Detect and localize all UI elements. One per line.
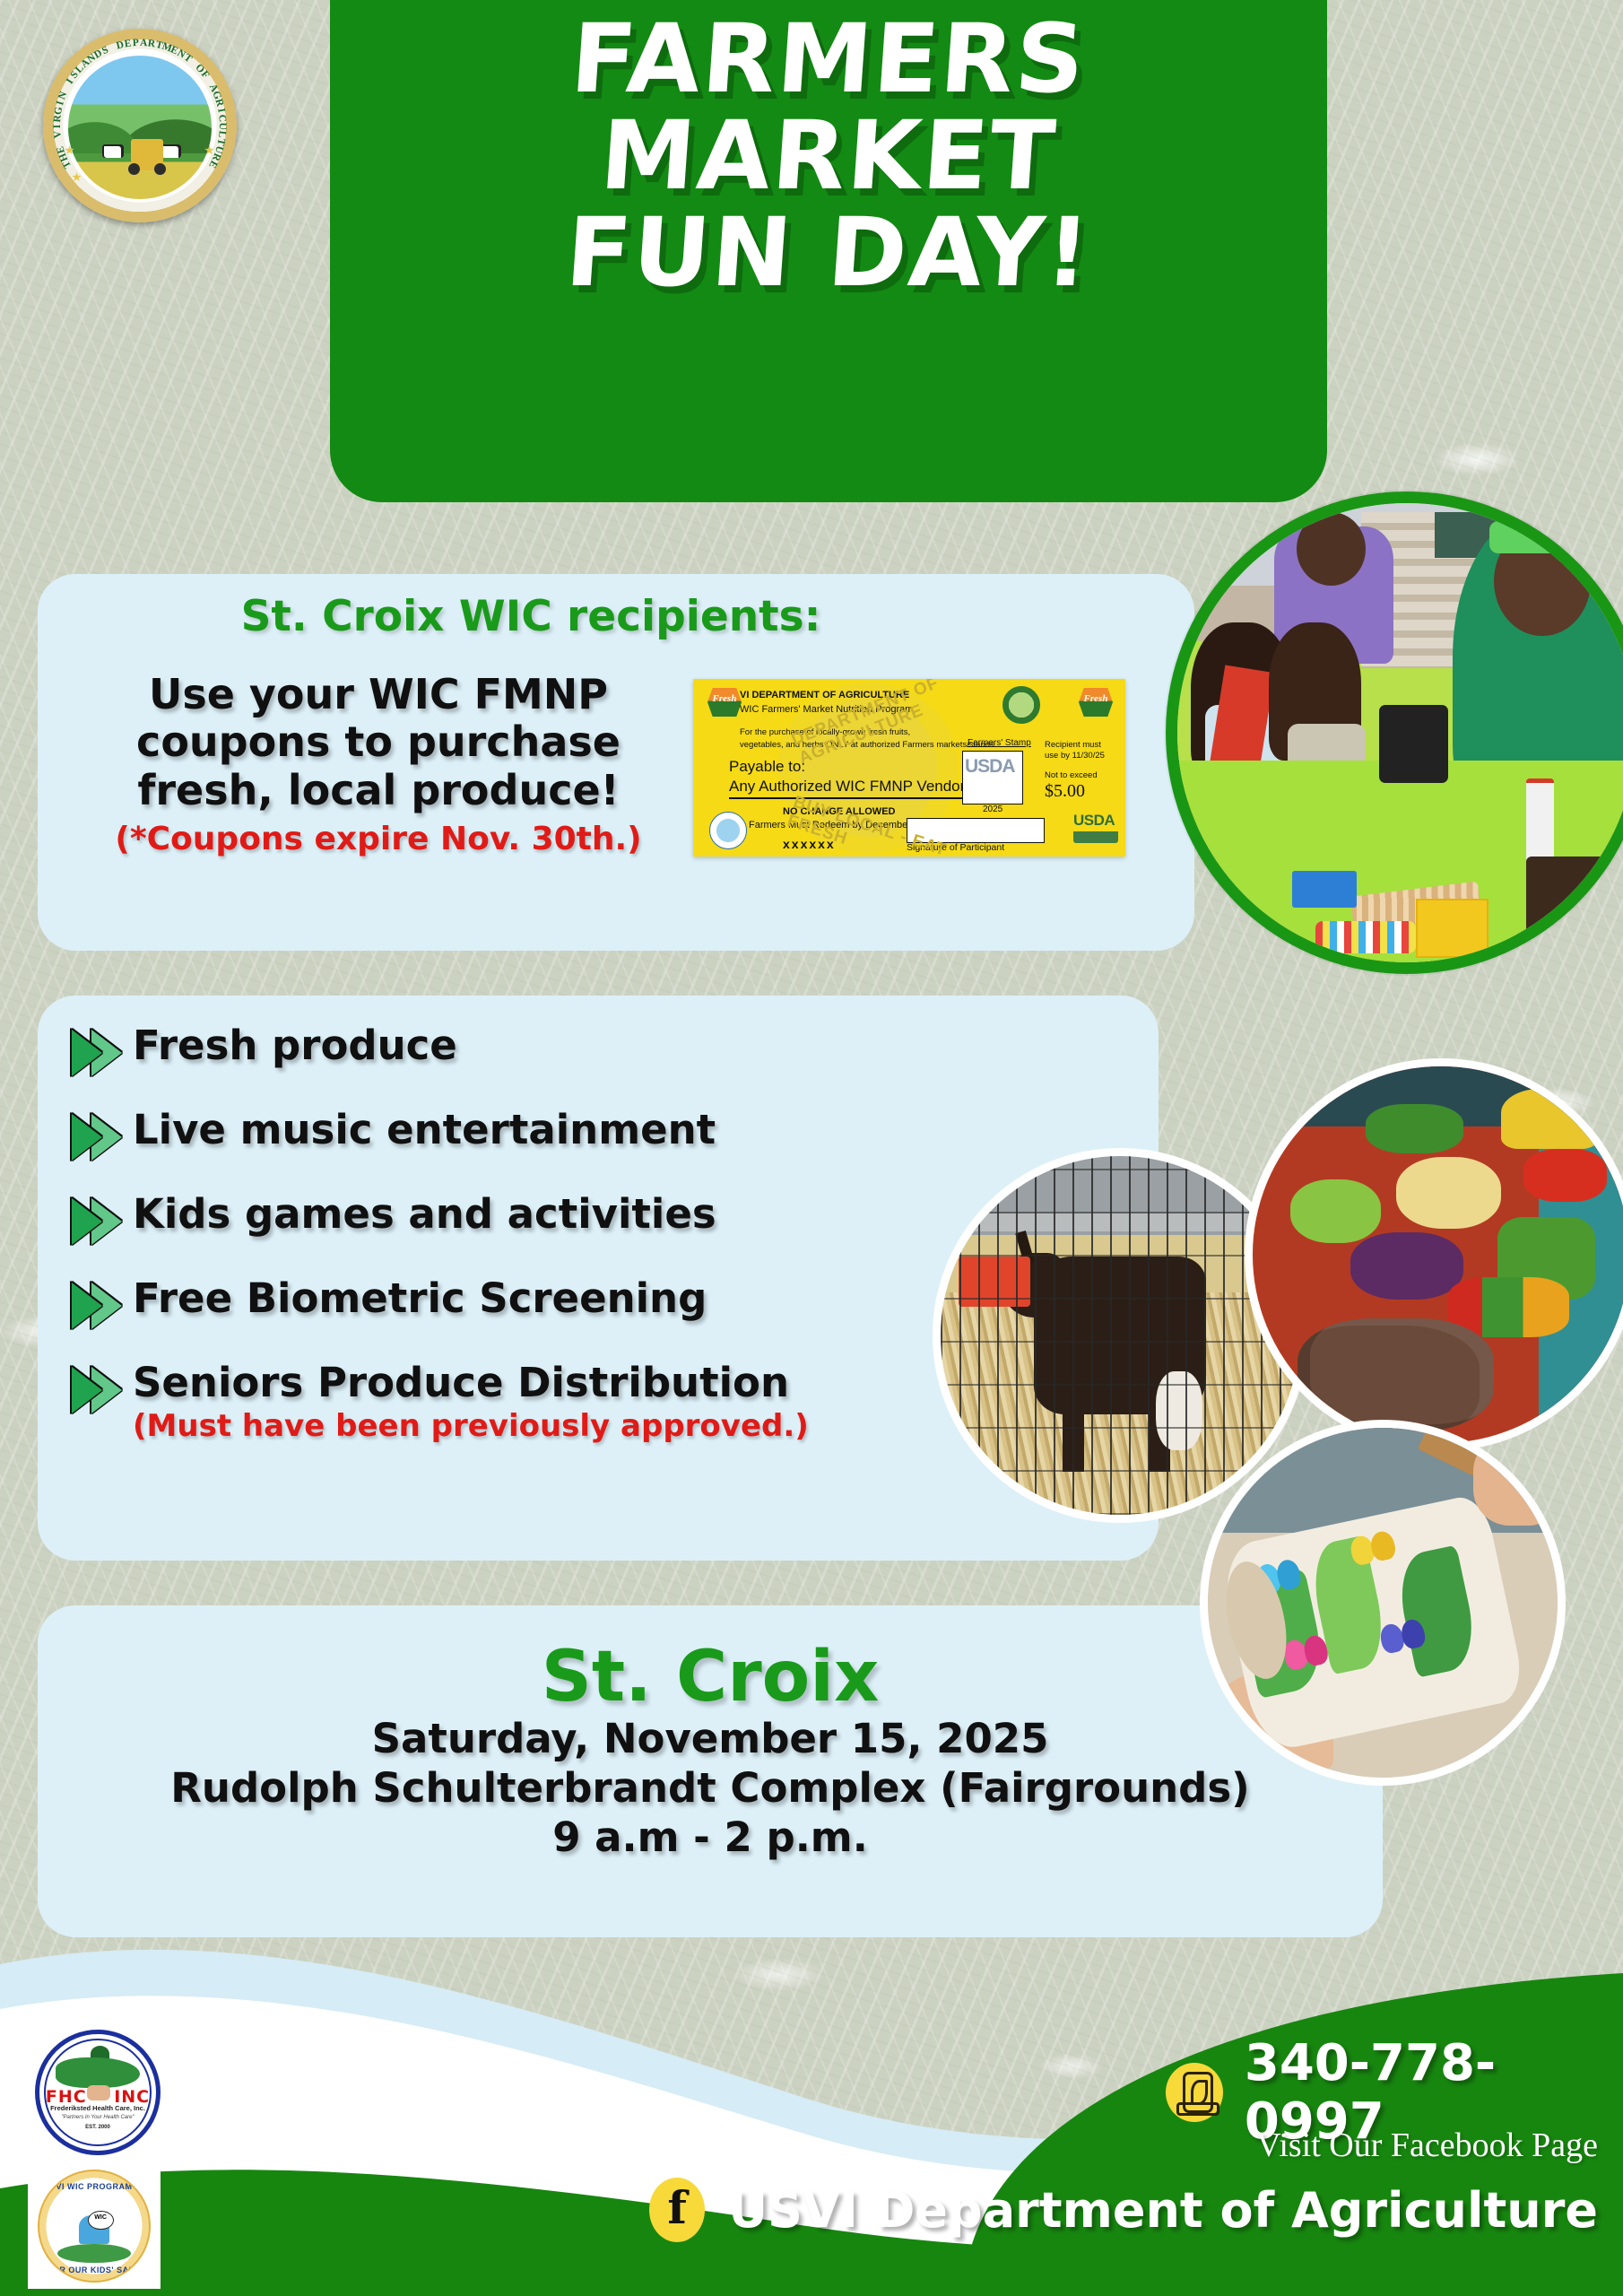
coupon-usda-stamp-logo: USDA: [965, 756, 1015, 778]
facebook-page-name[interactable]: USVI Department of Agriculture: [728, 2182, 1598, 2239]
coupon-wic-seal-icon: [709, 812, 747, 849]
wic-expiry-note: (*Coupons expire Nov. 30th.): [56, 821, 701, 857]
event-details: St. Croix Saturday, November 15, 2025 Ru…: [38, 1641, 1383, 1863]
event-venue: Rudolph Schulterbrandt Complex (Fairgrou…: [38, 1764, 1383, 1813]
coupon-watermark-text: DEPARTMENT OF AGRICULTUREBUY LOCAL - EAT…: [774, 684, 962, 853]
coupon-usda-logo-swoosh: [1073, 831, 1118, 843]
facebook-icon[interactable]: f: [649, 2178, 705, 2242]
list-item: Fresh produce: [70, 1024, 1128, 1080]
page-title-line-3: FUN DAY!: [326, 204, 1331, 301]
vi-department-of-agriculture-seal-icon: THE VIRGIN ISLANDS DEPARTMENT OF AGRICUL…: [43, 29, 237, 222]
wic-section-body: Use your WIC FMNP coupons to purchase fr…: [65, 671, 692, 814]
painted-butterfly-pot-photo: [1200, 1420, 1566, 1786]
fresh-badge-right-icon: Fresh: [1079, 688, 1113, 717]
phone-icon: [1166, 2063, 1223, 2122]
fresh-produce-stand-photo: [1245, 1058, 1623, 1451]
event-date: Saturday, November 15, 2025: [38, 1715, 1383, 1764]
list-item-label: Fresh produce: [133, 1024, 457, 1068]
list-item-label: Kids games and activities: [133, 1193, 716, 1237]
facebook-glyph: f: [649, 2183, 705, 2232]
coupon-stamp-label: Farmers' Stamp: [968, 738, 1031, 748]
coupon-amount: $5.00: [1045, 781, 1085, 802]
fresh-badge-label: Fresh: [707, 693, 742, 704]
kids-craft-activity-photo: [1166, 491, 1623, 974]
coupon-usda-logo-text: USDA: [1073, 812, 1120, 830]
event-time: 9 a.m - 2 p.m.: [38, 1813, 1383, 1863]
wic-fmnp-coupon-image: Fresh Fresh VI DEPARTMENT OF AGRICULTURE…: [693, 679, 1125, 857]
facebook-prompt: Visit Our Facebook Page: [0, 2126, 1598, 2165]
list-item-label: Free Biometric Screening: [133, 1277, 707, 1321]
fhc-acronym-2: INC: [114, 2087, 150, 2107]
list-item-label: Seniors Produce Distribution(Must have b…: [133, 1361, 809, 1443]
double-chevron-arrow-icon: [70, 1283, 133, 1333]
wic-logo-bottom-text: FOR OUR KIDS' SAKE: [39, 2266, 149, 2274]
fhc-name: Frederiksted Health Care, Inc.: [39, 2104, 156, 2112]
seal-ring-text: THE VIRGIN ISLANDS DEPARTMENT OF AGRICUL…: [43, 29, 237, 222]
page-title-line-2: MARKET: [326, 108, 1331, 204]
fhc-acronym: FHC: [46, 2087, 87, 2107]
coupon-not-to-exceed-label: Not to exceed: [1045, 770, 1098, 780]
double-chevron-arrow-icon: [70, 1198, 133, 1248]
coupon-usda-logo: USDA: [1073, 812, 1120, 843]
double-chevron-arrow-icon: [70, 1030, 133, 1080]
double-chevron-arrow-icon: [70, 1367, 133, 1417]
coupon-recipient-line-2: use by 11/30/25: [1045, 751, 1105, 761]
fresh-badge-left-icon: Fresh: [707, 688, 742, 717]
wic-section-heading: St. Croix WIC recipients:: [38, 592, 1024, 641]
handshake-icon: [87, 2085, 110, 2100]
coupon-agriculture-seal-icon: [1002, 686, 1040, 724]
event-city: St. Croix: [38, 1641, 1383, 1715]
page-title-line-1: FARMERS: [326, 11, 1331, 108]
fresh-badge-label: Fresh: [1079, 693, 1113, 704]
fhc-tagline: "Partners In Your Health Care": [39, 2115, 156, 2120]
double-chevron-arrow-icon: [70, 1114, 133, 1164]
poster-title-panel: FARMERS MARKET FUN DAY!: [330, 0, 1327, 502]
list-item-sublabel: (Must have been previously approved.): [133, 1409, 809, 1443]
coupon-stamp-year: 2025: [983, 804, 1002, 814]
coupon-recipient-line-1: Recipient must: [1045, 740, 1101, 750]
list-item-label: Live music entertainment: [133, 1109, 716, 1152]
facebook-page-row[interactable]: f USVI Department of Agriculture: [0, 2178, 1598, 2242]
